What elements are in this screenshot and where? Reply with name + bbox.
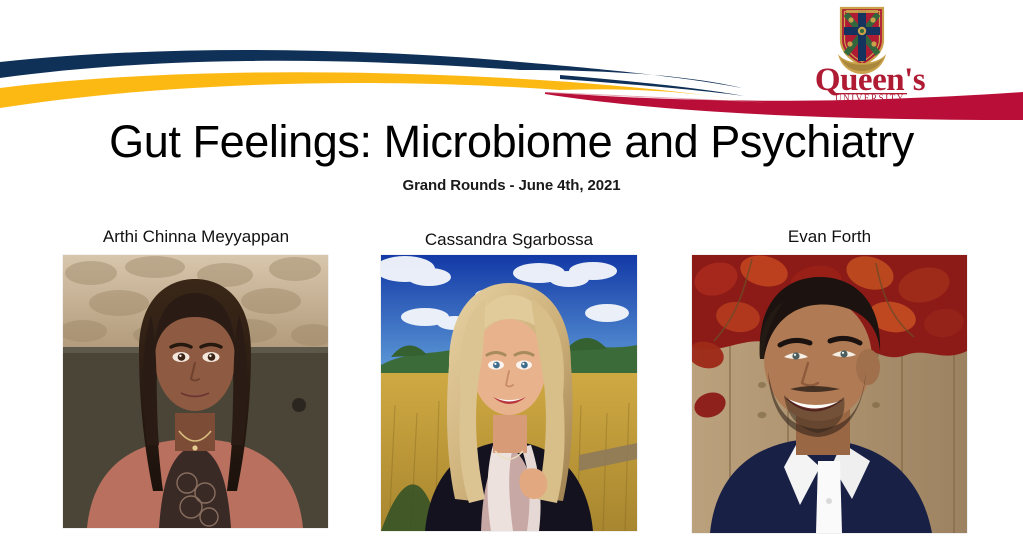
swoosh-gold-band — [0, 72, 752, 108]
presentation-slide: Queen's UNIVERSITY Gut Feelings: Microbi… — [0, 0, 1023, 539]
queens-university-logo: Queen's UNIVERSITY — [805, 2, 935, 102]
page-title: Gut Feelings: Microbiome and Psychiatry — [0, 118, 1023, 165]
swoosh-navy-band — [0, 50, 742, 88]
swoosh-navy-tail — [560, 75, 744, 96]
queens-wordmark-sub: UNIVERSITY — [835, 93, 905, 102]
portrait-evan-forth — [692, 255, 967, 533]
speaker-photo-3 — [692, 255, 967, 533]
speaker-name-1: Arthi Chinna Meyyappan — [0, 228, 392, 245]
swoosh-red-hairline — [545, 92, 780, 103]
speaker-block-1: Arthi Chinna Meyyappan — [0, 228, 392, 245]
portrait-cassandra-sgarbossa — [381, 255, 637, 531]
speaker-name-2: Cassandra Sgarbossa — [381, 231, 637, 248]
speaker-name-3: Evan Forth — [692, 228, 967, 245]
title-block: Gut Feelings: Microbiome and Psychiatry … — [0, 118, 1023, 194]
speaker-photo-1 — [63, 255, 328, 528]
speaker-photo-2 — [381, 255, 637, 531]
portrait-arthi-chinna-meyyappan — [63, 255, 328, 528]
slide-subtitle: Grand Rounds - June 4th, 2021 — [0, 177, 1023, 194]
speaker-block-2: Cassandra Sgarbossa — [381, 231, 637, 248]
speaker-block-3: Evan Forth — [692, 228, 967, 245]
